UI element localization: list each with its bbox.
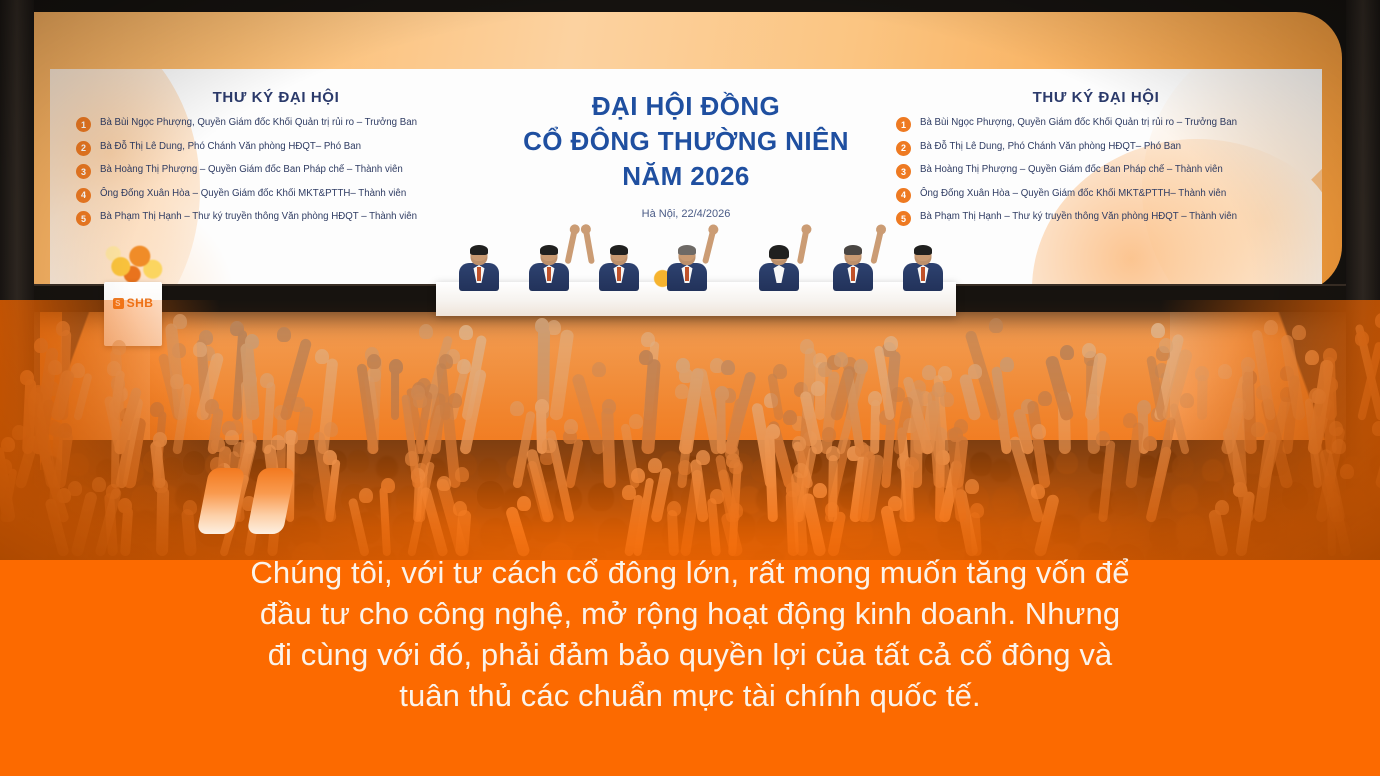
list-item-label: Bà Hoàng Thị Phượng – Quyền Giám đốc Ban… [920, 164, 1223, 176]
panel-member-7 [896, 246, 950, 290]
list-item: 2 Bà Đỗ Thị Lê Dung, Phó Chánh Văn phòng… [76, 141, 476, 156]
list-item-label: Bà Đỗ Thị Lê Dung, Phó Chánh Văn phòng H… [100, 141, 361, 153]
secretary-panel-left-title: THƯ KÝ ĐẠI HỘI [76, 89, 476, 106]
quote-line-2: đầu tư cho công nghệ, mở rộng hoạt động … [0, 593, 1380, 634]
panel-member-3 [592, 246, 646, 290]
secretary-list-right: 1 Bà Bùi Ngọc Phượng, Quyền Giám đốc Khố… [896, 117, 1296, 226]
list-item: 1 Bà Bùi Ngọc Phượng, Quyền Giám đốc Khố… [76, 117, 476, 132]
list-item-label: Ông Đống Xuân Hòa – Quyền Giám đốc Khối … [100, 188, 406, 200]
list-item-label: Bà Đỗ Thị Lê Dung, Phó Chánh Văn phòng H… [920, 141, 1181, 153]
list-item-label: Bà Phạm Thị Hạnh – Thư ký truyền thông V… [100, 211, 417, 223]
poster-canvas: THƯ KÝ ĐẠI HỘI 1 Bà Bùi Ngọc Phượng, Quy… [0, 0, 1380, 776]
panel-member-2 [522, 246, 576, 290]
list-item-label: Bà Hoàng Thị Phượng – Quyền Giám đốc Ban… [100, 164, 403, 176]
list-item: 1 Bà Bùi Ngọc Phượng, Quyền Giám đốc Khố… [896, 117, 1296, 132]
list-item: 3 Bà Hoàng Thị Phượng – Quyền Giám đốc B… [896, 164, 1296, 179]
list-badge: 5 [896, 211, 911, 226]
list-badge: 3 [896, 164, 911, 179]
quote-line-1: Chúng tôi, với tư cách cổ đông lớn, rất … [0, 552, 1380, 593]
list-item-label: Bà Bùi Ngọc Phượng, Quyền Giám đốc Khối … [100, 117, 417, 129]
list-item-label: Ông Đống Xuân Hòa – Quyền Giám đốc Khối … [920, 188, 1226, 200]
secretary-panel-left: THƯ KÝ ĐẠI HỘI 1 Bà Bùi Ngọc Phượng, Quy… [76, 89, 476, 235]
panel-member-1 [452, 246, 506, 290]
list-item: 4 Ông Đống Xuân Hòa – Quyền Giám đốc Khố… [76, 188, 476, 203]
list-badge: 2 [896, 141, 911, 156]
list-item-label: Bà Bùi Ngọc Phượng, Quyền Giám đốc Khối … [920, 117, 1237, 129]
list-item: 2 Bà Đỗ Thị Lê Dung, Phó Chánh Văn phòng… [896, 141, 1296, 156]
list-badge: 1 [896, 117, 911, 132]
secretary-panel-right: THƯ KÝ ĐẠI HỘI 1 Bà Bùi Ngọc Phượng, Quy… [896, 89, 1296, 235]
slide-center-title-block: ĐẠI HỘI ĐỒNG CỔ ĐÔNG THƯỜNG NIÊN NĂM 202… [466, 91, 906, 220]
secretary-panel-right-title: THƯ KÝ ĐẠI HỘI [896, 89, 1296, 106]
pull-quote: Chúng tôi, với tư cách cổ đông lớn, rất … [0, 552, 1380, 716]
list-badge: 3 [76, 164, 91, 179]
list-badge: 4 [896, 188, 911, 203]
list-badge: 4 [76, 188, 91, 203]
secretary-list-left: 1 Bà Bùi Ngọc Phượng, Quyền Giám đốc Khố… [76, 117, 476, 226]
quotation-mark-icon [203, 468, 295, 534]
slide-title-line-2: CỔ ĐÔNG THƯỜNG NIÊN [466, 126, 906, 157]
list-item-label: Bà Phạm Thị Hạnh – Thư ký truyền thông V… [920, 211, 1237, 223]
list-badge: 2 [76, 141, 91, 156]
list-item: 4 Ông Đống Xuân Hòa – Quyền Giám đốc Khố… [896, 188, 1296, 203]
quote-line-3: đi cùng với đó, phải đảm bảo quyền lợi c… [0, 634, 1380, 675]
list-item: 3 Bà Hoàng Thị Phượng – Quyền Giám đốc B… [76, 164, 476, 179]
panel-member-chairman [660, 246, 714, 290]
list-badge: 5 [76, 211, 91, 226]
quote-line-4: tuân thủ các chuẩn mực tài chính quốc tế… [0, 675, 1380, 716]
panel-member-6 [826, 246, 880, 290]
slide-location-date: Hà Nội, 22/4/2026 [466, 208, 906, 220]
list-badge: 1 [76, 117, 91, 132]
panel-member-5 [752, 246, 806, 290]
slide-title-line-1: ĐẠI HỘI ĐỒNG [466, 91, 906, 122]
list-item: 5 Bà Phạm Thị Hạnh – Thư ký truyền thông… [76, 211, 476, 226]
list-item: 5 Bà Phạm Thị Hạnh – Thư ký truyền thông… [896, 211, 1296, 226]
slide-title-line-3: NĂM 2026 [466, 161, 906, 192]
